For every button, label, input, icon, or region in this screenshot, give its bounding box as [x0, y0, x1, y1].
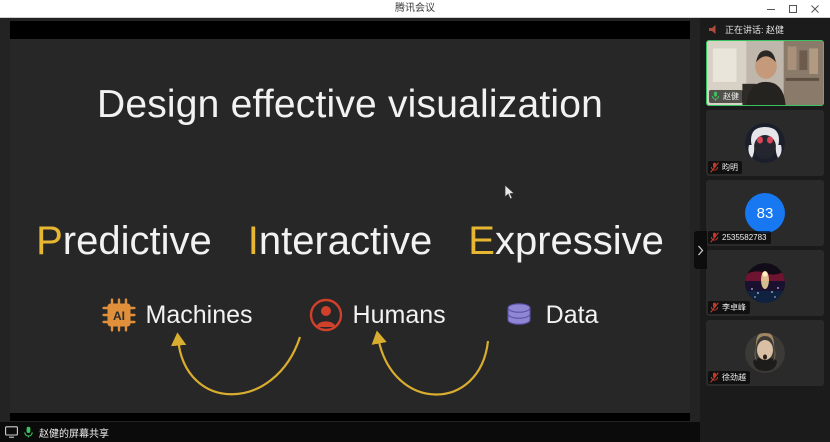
- arrow-data-to-humans: [378, 337, 488, 395]
- minimize-button[interactable]: [760, 0, 782, 18]
- participant-name: 赵健: [723, 91, 739, 102]
- participant-name-badge: 昀明: [708, 161, 742, 174]
- window-controls: [760, 0, 826, 18]
- keyword-interactive-rest: nteractive: [259, 219, 432, 263]
- concept-machines-label: Machines: [146, 301, 253, 330]
- sidebar-collapse-handle[interactable]: [694, 231, 707, 269]
- ai-chip-icon: AI: [102, 298, 136, 332]
- participant-name: 李卓峰: [722, 302, 746, 313]
- mic-off-icon: [710, 372, 719, 383]
- participant-tile-zhaojian[interactable]: 赵健: [706, 40, 824, 106]
- participant-name-badge: 赵健: [709, 90, 743, 103]
- avatar: [745, 123, 785, 163]
- tencent-meeting-window: 腾讯会议: [0, 0, 830, 442]
- screen-share-icon: [5, 426, 18, 438]
- avatar: [745, 333, 785, 373]
- meeting-body: Design effective visualization Predictiv…: [0, 18, 830, 442]
- keyword-expressive: Expressive: [468, 219, 664, 264]
- participant-tile-2535582783[interactable]: 83 2535582783: [706, 180, 824, 246]
- slide-title: Design effective visualization: [10, 83, 690, 127]
- speaker-icon: [707, 23, 720, 36]
- avatar-image: [745, 333, 785, 373]
- participant-name: 昀明: [722, 162, 738, 173]
- window-title: 腾讯会议: [0, 0, 830, 18]
- minimize-icon: [766, 4, 776, 14]
- avatar-initials: 83: [757, 205, 774, 222]
- arrow-humans-to-machines: [178, 337, 300, 394]
- keyword-interactive: Interactive: [248, 219, 433, 264]
- keyword-expressive-rest: xpressive: [495, 219, 664, 263]
- avatar-image: [745, 263, 785, 303]
- concepts-row: AI Machines Humans: [10, 298, 690, 332]
- maximize-icon: [788, 4, 798, 14]
- presentation-slide: Design effective visualization Predictiv…: [10, 21, 690, 421]
- mic-on-icon: [711, 91, 720, 102]
- keyword-predictive: Predictive: [36, 219, 212, 264]
- keywords-row: Predictive Interactive Expressive: [10, 219, 690, 264]
- participant-name-badge: 徐劲越: [708, 371, 750, 384]
- participant-tile-xujinyue[interactable]: 徐劲越: [706, 320, 824, 386]
- keyword-expressive-capital: E: [468, 219, 495, 263]
- participant-tile-yunming[interactable]: 昀明: [706, 110, 824, 176]
- slide-top-letterbox: [10, 21, 690, 39]
- concept-humans: Humans: [309, 298, 446, 332]
- participant-tile-lizhuofeng[interactable]: 李卓峰: [706, 250, 824, 316]
- chevron-right-icon: [697, 245, 704, 256]
- concept-data: Data: [502, 298, 599, 332]
- avatar: 83: [745, 193, 785, 233]
- participant-name-badge: 李卓峰: [708, 301, 750, 314]
- participant-name: 徐劲越: [722, 372, 746, 383]
- svg-text:AI: AI: [113, 309, 125, 323]
- screen-share-status-bar: 赵健的屏幕共享: [0, 422, 700, 442]
- title-bar: 腾讯会议: [0, 0, 830, 18]
- mic-on-icon: [22, 426, 35, 438]
- concept-humans-label: Humans: [353, 301, 446, 330]
- shared-screen-area[interactable]: Design effective visualization Predictiv…: [0, 18, 700, 442]
- slide-bottom-letterbox: [10, 413, 690, 421]
- mic-off-icon: [710, 302, 719, 313]
- keyword-predictive-capital: P: [36, 219, 63, 263]
- mic-off-icon: [710, 162, 719, 173]
- database-icon: [502, 298, 536, 332]
- participant-name: 2535582783: [722, 233, 767, 242]
- close-button[interactable]: [804, 0, 826, 18]
- screen-share-status-text: 赵健的屏幕共享: [39, 425, 109, 440]
- mouse-cursor: [504, 184, 516, 202]
- keyword-predictive-rest: redictive: [63, 219, 212, 263]
- concept-machines: AI Machines: [102, 298, 253, 332]
- maximize-button[interactable]: [782, 0, 804, 18]
- close-icon: [810, 4, 820, 14]
- person-icon: [309, 298, 343, 332]
- participant-name-badge: 2535582783: [708, 231, 771, 244]
- avatar-image: [745, 123, 785, 163]
- participants-sidebar: 正在讲话: 赵健: [700, 18, 830, 442]
- concept-data-label: Data: [546, 301, 599, 330]
- active-speaker-banner: 正在讲话: 赵健: [704, 18, 826, 40]
- keyword-interactive-capital: I: [248, 219, 259, 263]
- mic-off-icon: [710, 232, 719, 243]
- active-speaker-label: 正在讲话: 赵健: [725, 23, 784, 36]
- avatar: [745, 263, 785, 303]
